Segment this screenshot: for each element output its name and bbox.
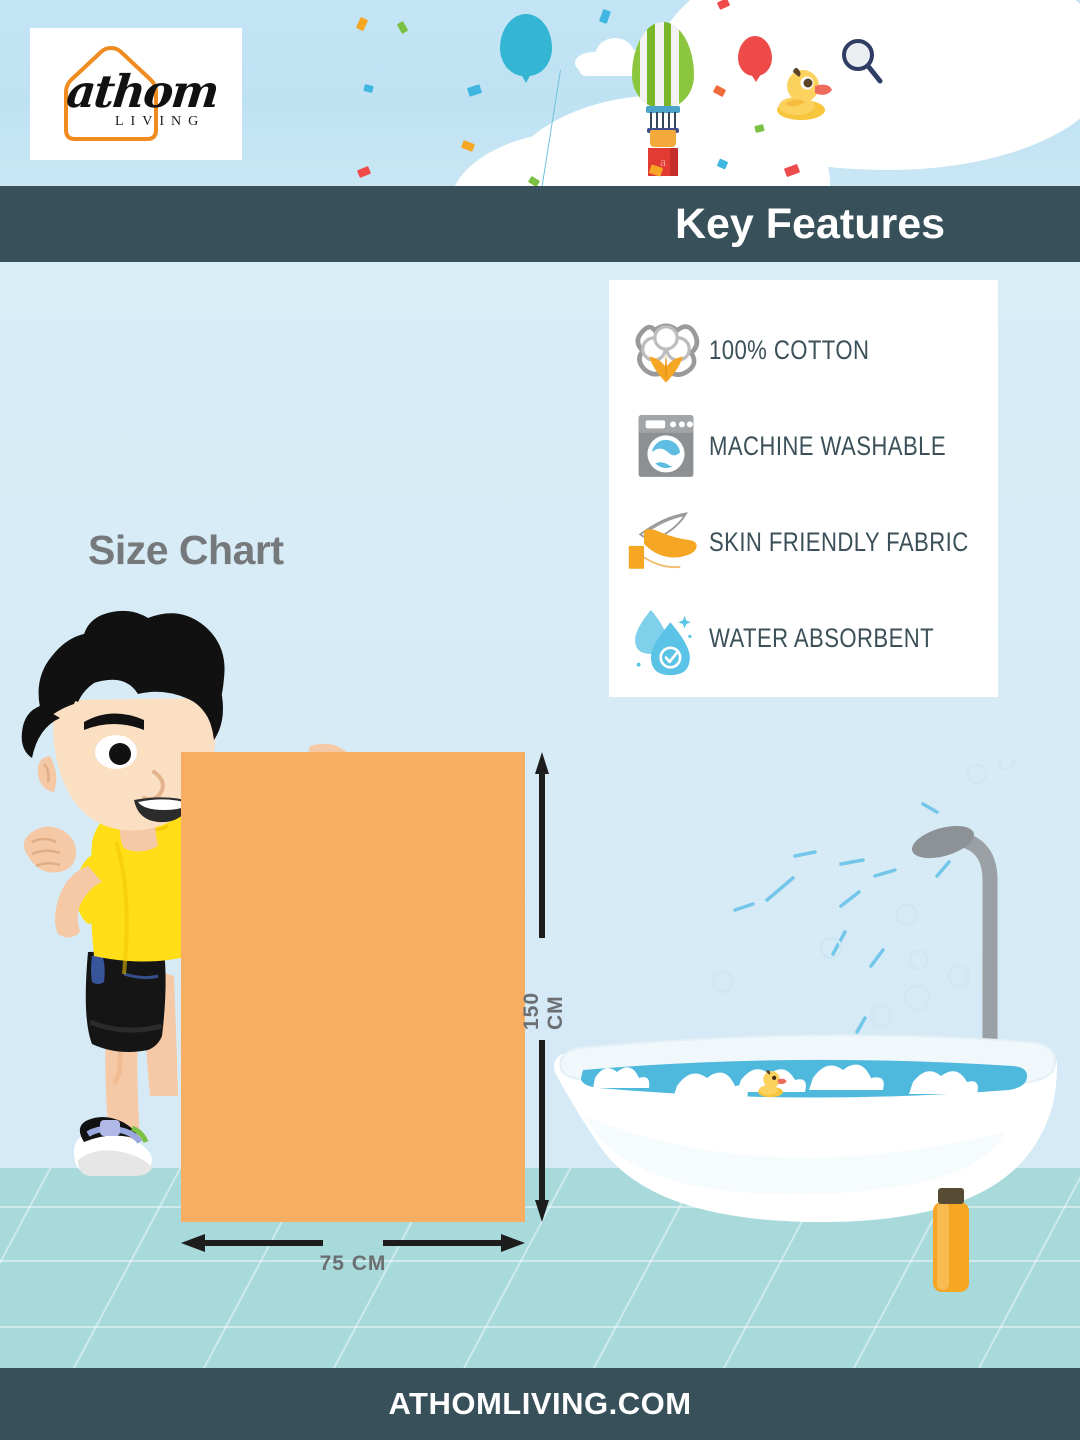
height-dimension-label: 150 CM — [489, 960, 599, 1030]
width-dimension-label: 75 CM — [181, 1252, 525, 1276]
size-chart-heading: Size Chart — [88, 527, 284, 574]
hot-air-balloon-icon: a — [632, 22, 694, 172]
cloud-icon-3 — [888, 18, 974, 52]
key-features-panel: 100% COTTON MACHINE WASHABLE — [609, 280, 998, 697]
feature-label: SKIN FRIENDLY FABRIC — [709, 527, 969, 558]
bathroom-scene-illustration — [545, 760, 1080, 1320]
shampoo-bottle-icon — [933, 1188, 969, 1292]
shower-head-icon — [908, 820, 977, 865]
feature-row: WATER ABSORBENT — [623, 593, 984, 685]
balloon-blue-icon — [500, 14, 552, 84]
confetti — [397, 21, 409, 34]
feature-label: 100% COTTON — [709, 335, 869, 366]
balloon-red-icon — [738, 36, 772, 82]
logo-wordmark: athom — [64, 65, 220, 118]
width-dimension-arrow — [181, 1232, 525, 1254]
water-droplet-check-icon — [623, 596, 709, 682]
footer-bar: ATHOMLIVING.COM — [0, 1368, 1080, 1440]
feature-label: MACHINE WASHABLE — [709, 431, 946, 462]
infographic-page: a K — [0, 0, 1080, 1440]
website-url[interactable]: ATHOMLIVING.COM — [388, 1386, 691, 1422]
feature-row: MACHINE WASHABLE — [623, 400, 984, 492]
fist — [24, 826, 76, 872]
sneaker — [74, 1117, 152, 1176]
confetti — [467, 84, 482, 97]
rubber-duck-icon — [775, 64, 835, 122]
hand-feather-icon — [623, 500, 709, 586]
washing-machine-icon — [623, 403, 709, 489]
page-title: Key Features — [675, 200, 945, 249]
feature-row: SKIN FRIENDLY FABRIC — [623, 497, 984, 589]
shower-pipe — [950, 838, 990, 1060]
confetti — [356, 17, 368, 31]
feature-row: 100% COTTON — [623, 304, 984, 396]
confetti — [599, 9, 611, 24]
athom-living-logo[interactable]: athom LIVING — [30, 28, 242, 160]
feature-label: WATER ABSORBENT — [709, 623, 934, 654]
confetti — [357, 166, 371, 178]
confetti — [461, 140, 475, 152]
cotton-boll-icon — [623, 307, 709, 393]
logo-subtext: LIVING — [115, 114, 205, 130]
confetti — [363, 84, 374, 93]
towel-size-rectangle — [181, 752, 525, 1222]
search-icon — [840, 38, 884, 86]
key-features-title-bar: Key Features — [0, 186, 1080, 262]
